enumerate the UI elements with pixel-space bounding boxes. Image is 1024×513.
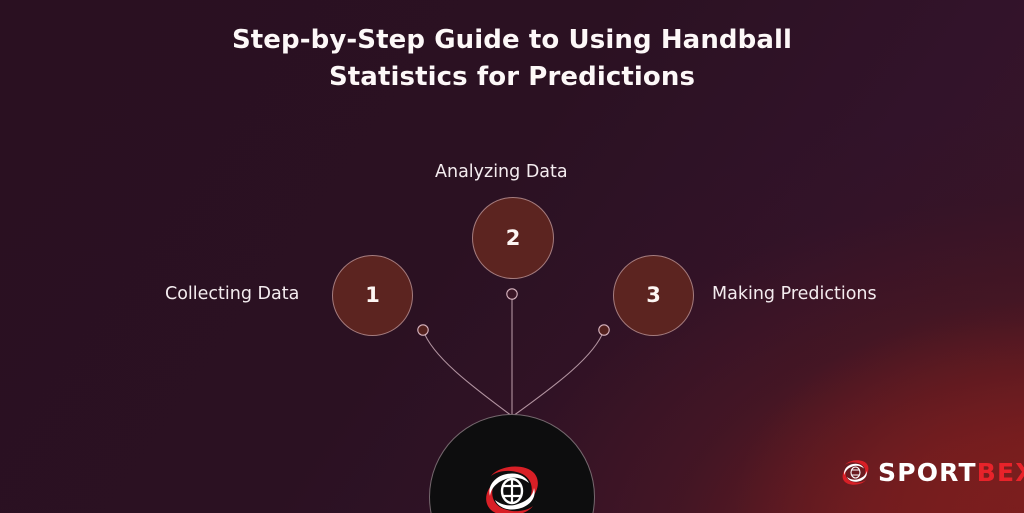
connector-dot-step-2 xyxy=(507,289,517,299)
connector-dot-step-3 xyxy=(599,325,609,335)
connector-path-step-1 xyxy=(423,330,512,416)
brand-wordmark-accent: BEX xyxy=(977,458,1024,487)
step-label-1: Collecting Data xyxy=(165,283,299,305)
step-node-2[interactable]: 2 xyxy=(472,197,554,279)
sportbex-logo: SPORTBEX xyxy=(840,458,1024,487)
step-number-1: 1 xyxy=(365,285,380,306)
brand-wordmark-primary: SPORT xyxy=(878,458,977,487)
step-label-2: Analyzing Data xyxy=(435,161,568,183)
step-number-2: 2 xyxy=(506,228,521,249)
page-title-line-1: Step-by-Step Guide to Using Handball xyxy=(0,22,1024,59)
step-node-1[interactable]: 1 xyxy=(332,255,413,336)
step-node-3[interactable]: 3 xyxy=(613,255,694,336)
connector-path-step-3 xyxy=(513,330,604,416)
central-hub xyxy=(429,414,595,513)
page-title: Step-by-Step Guide to Using Handball Sta… xyxy=(0,22,1024,96)
page-title-line-2: Statistics for Predictions xyxy=(0,59,1024,96)
connector-dot-step-1 xyxy=(418,325,428,335)
step-label-3: Making Predictions xyxy=(712,283,877,305)
brand-wordmark: SPORTBEX xyxy=(878,460,1024,485)
step-number-3: 3 xyxy=(646,285,661,306)
sportbex-globe-swirl-emblem xyxy=(481,462,543,513)
infographic-canvas: Step-by-Step Guide to Using Handball Sta… xyxy=(0,0,1024,513)
sportbex-swirl-icon xyxy=(840,458,871,487)
